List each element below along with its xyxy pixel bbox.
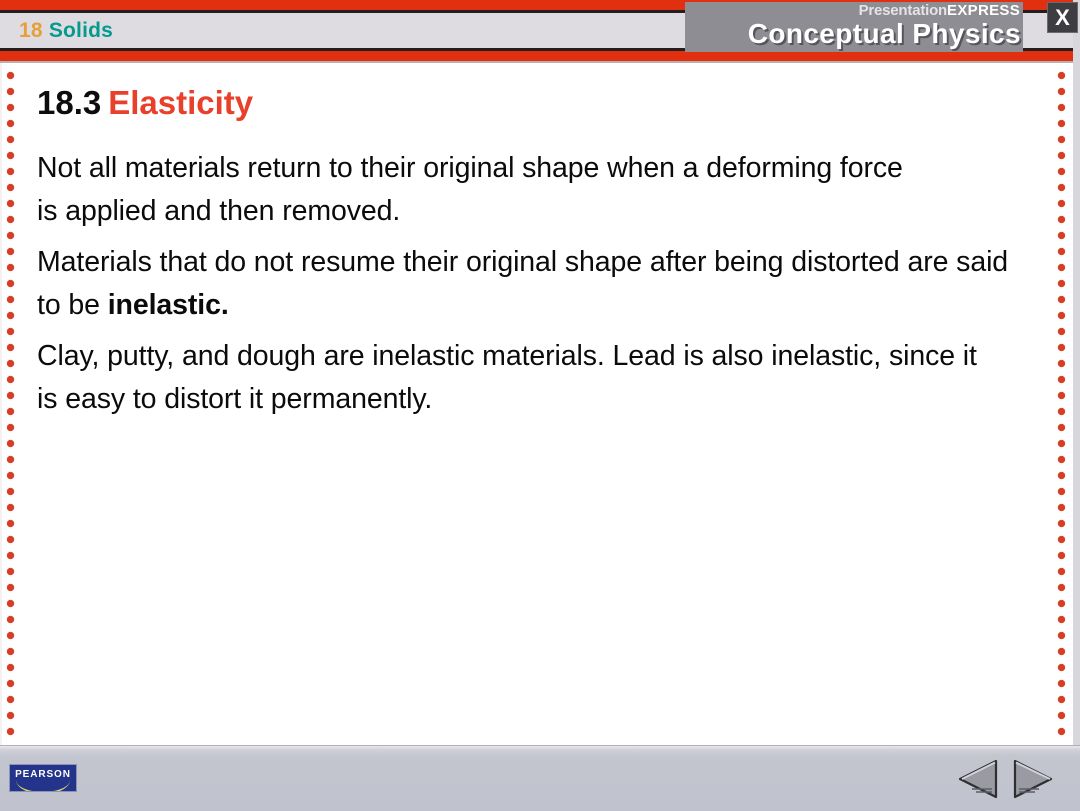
slide-right-edge xyxy=(1073,0,1080,745)
slide-body: Not all materials return to their origin… xyxy=(37,147,1027,429)
previous-slide-button[interactable] xyxy=(956,756,1002,802)
slide-content-area: 18.3Elasticity Not all materials return … xyxy=(0,63,1080,745)
brand-presentation-express: PresentationEXPRESS xyxy=(685,2,1023,19)
section-title: Elasticity xyxy=(108,84,253,121)
body-text: Not all materials return to their origin… xyxy=(37,152,903,227)
chapter-title: Solids xyxy=(49,19,113,42)
dotted-border-left xyxy=(6,71,15,737)
right-triangle-icon xyxy=(1009,756,1055,802)
pearson-arc-icon xyxy=(16,780,70,792)
navigation-buttons xyxy=(956,754,1066,804)
emphasis-text: inelastic. xyxy=(108,289,229,321)
brand-presentation-word: Presentation xyxy=(859,2,947,19)
body-paragraph-2: Materials that do not resume their origi… xyxy=(37,241,1012,327)
page-title: 18.3Elasticity xyxy=(37,84,253,122)
body-paragraph-1: Not all materials return to their origin… xyxy=(37,147,917,233)
bottom-toolbar: PEARSON xyxy=(0,745,1080,811)
body-text: Clay, putty, and dough are inelastic mat… xyxy=(37,340,977,415)
top-header-bar: 18 Solids PresentationEXPRESS Conceptual… xyxy=(0,0,1080,62)
brand-panel: PresentationEXPRESS Conceptual Physics xyxy=(685,2,1023,52)
brand-product-title: Conceptual Physics xyxy=(685,18,1023,50)
pearson-logo-text: PEARSON xyxy=(10,769,76,780)
pearson-logo: PEARSON xyxy=(9,764,77,792)
next-slide-button[interactable] xyxy=(1009,756,1055,802)
chapter-number: 18 xyxy=(19,19,43,42)
close-button[interactable]: X xyxy=(1047,2,1078,33)
dotted-border-right xyxy=(1057,71,1066,737)
brand-express-word: EXPRESS xyxy=(947,2,1020,19)
section-number: 18.3 xyxy=(37,84,101,121)
header-red-stripe-bottom xyxy=(0,51,1080,61)
body-paragraph-3: Clay, putty, and dough are inelastic mat… xyxy=(37,335,997,421)
close-icon: X xyxy=(1055,7,1070,29)
slide-left-edge xyxy=(0,63,2,745)
chapter-label: 18 Solids xyxy=(19,19,113,43)
left-triangle-icon xyxy=(956,756,1002,802)
